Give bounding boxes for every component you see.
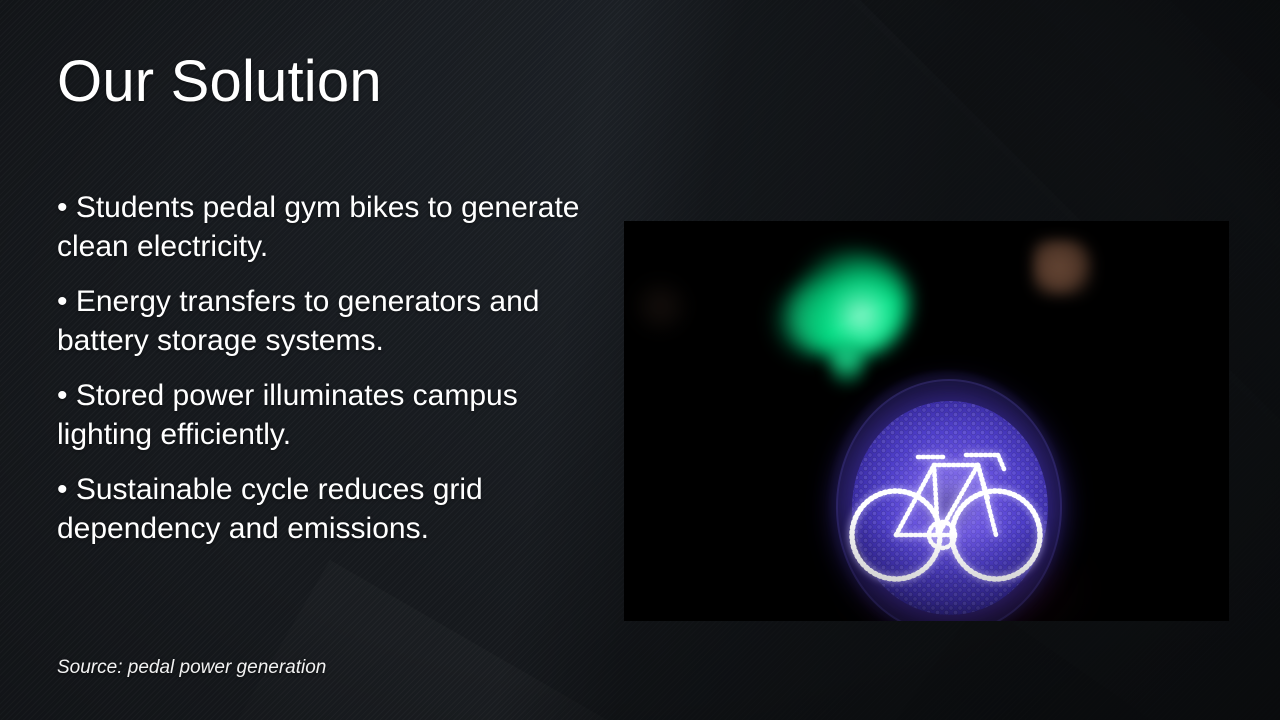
dark-bokeh-light [632, 279, 688, 333]
bullet-list: • Students pedal gym bikes to generate c… [57, 188, 602, 548]
bullet-item: • Stored power illuminates campus lighti… [57, 376, 602, 454]
bullet-item: • Energy transfers to generators and bat… [57, 282, 602, 360]
brown-bokeh-light [1032, 239, 1094, 297]
bullet-item: • Students pedal gym bikes to generate c… [57, 188, 602, 266]
presentation-slide: Our Solution • Students pedal gym bikes … [0, 0, 1280, 720]
slide-photo [624, 221, 1229, 621]
green-bokeh-light-tail [829, 341, 865, 387]
source-caption: Source: pedal power generation [57, 657, 326, 679]
bullet-item: • Sustainable cycle reduces grid depende… [57, 470, 602, 548]
bicycle-icon [838, 407, 1052, 611]
slide-title: Our Solution [57, 52, 382, 113]
